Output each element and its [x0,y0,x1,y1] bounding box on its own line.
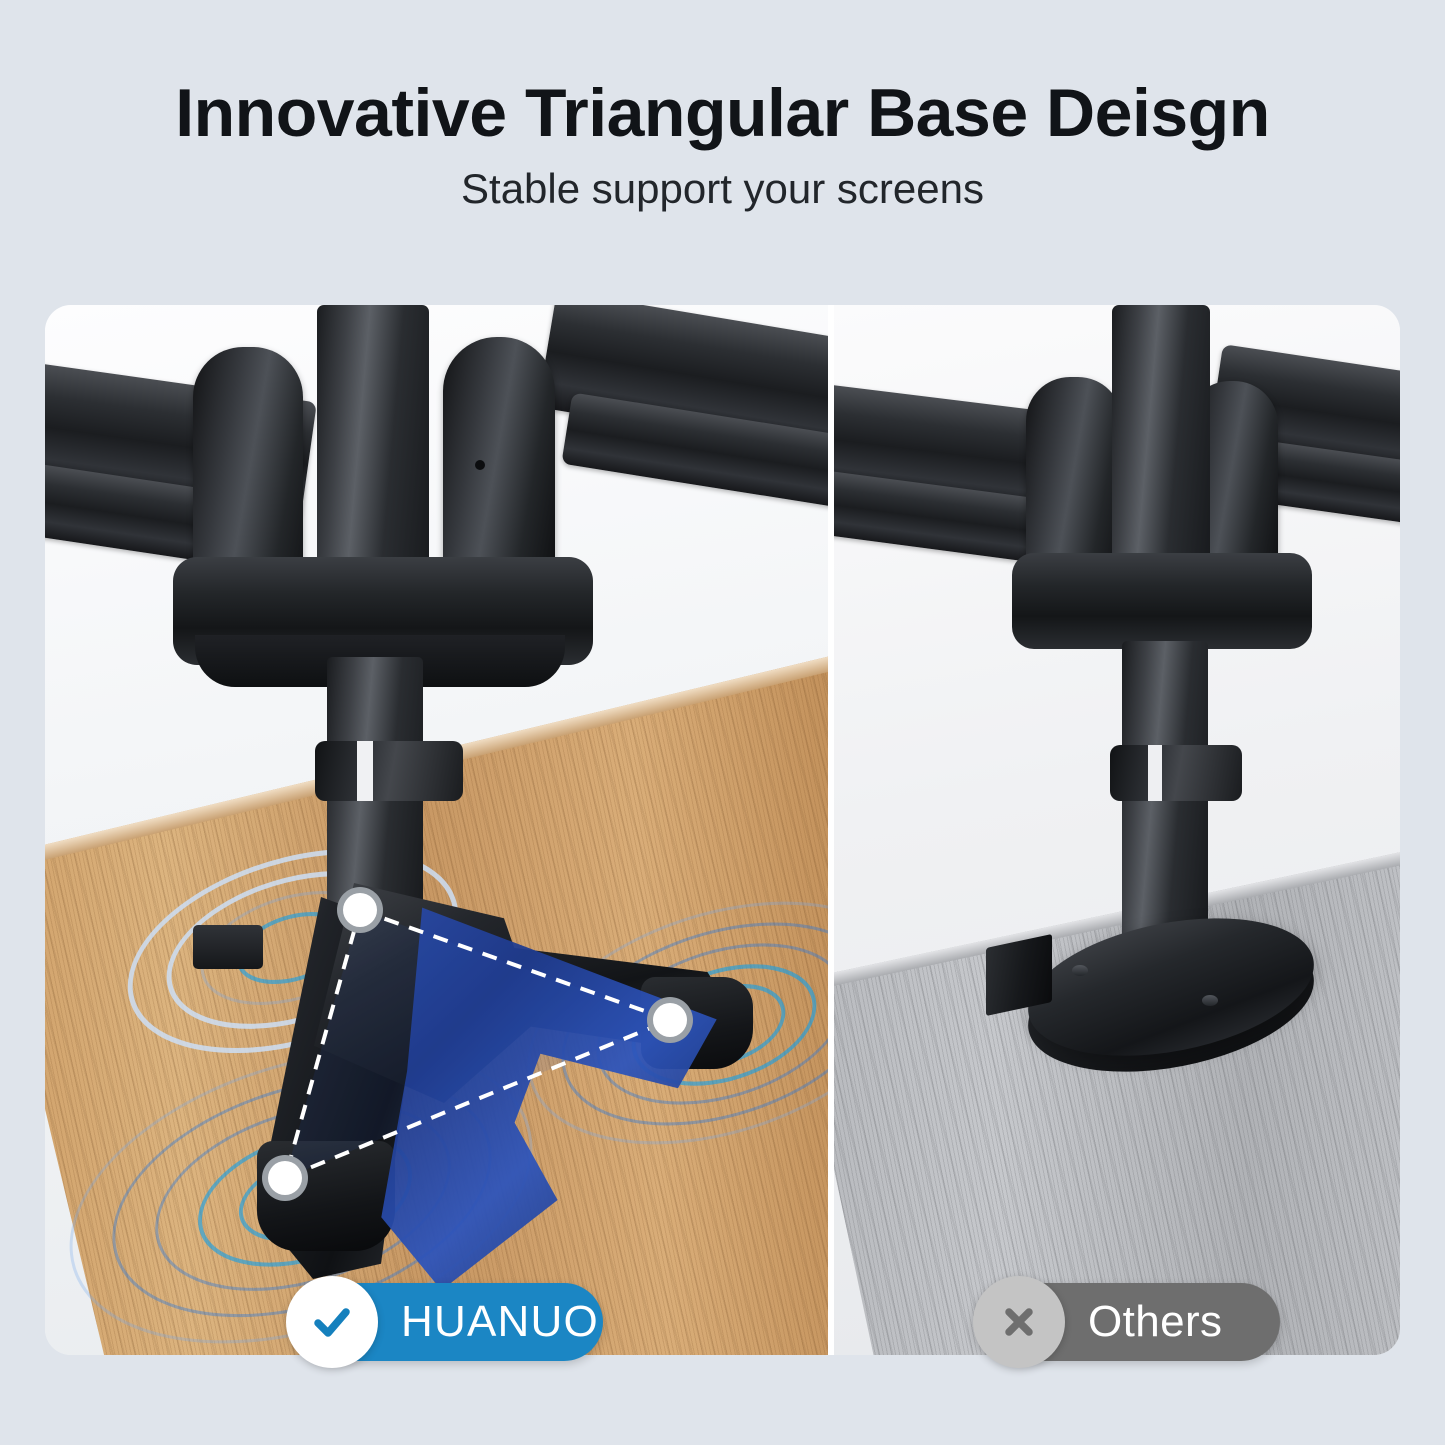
contact-node-right [647,997,693,1043]
panel-divider [828,305,834,1355]
arm-hub-others [1012,553,1312,649]
cable-clip-others [1110,745,1242,801]
round-base-screw-b [1202,995,1218,1006]
page-title: Innovative Triangular Base Deisgn [175,78,1270,149]
x-icon [973,1276,1065,1368]
stability-triangle-overlay [45,305,828,1355]
huanuo-badge-label: HUANUO [401,1297,599,1347]
page-subtitle: Stable support your screens [461,166,984,212]
others-photo-half [834,305,1400,1355]
check-icon [286,1276,378,1368]
clamp-bracket-others [986,934,1052,1016]
huanuo-photo-half [45,305,828,1355]
others-badge-label: Others [1088,1297,1222,1347]
header-block: Innovative Triangular Base Deisgn Stable… [0,0,1445,300]
contact-node-left [262,1155,308,1201]
contact-node-top [337,887,383,933]
comparison-panel [45,305,1400,1355]
cable-clip-gap-others [1148,745,1162,801]
huanuo-badge[interactable]: HUANUO [295,1283,603,1361]
others-badge[interactable]: Others [982,1283,1280,1361]
round-base-screw-a [1072,965,1088,976]
